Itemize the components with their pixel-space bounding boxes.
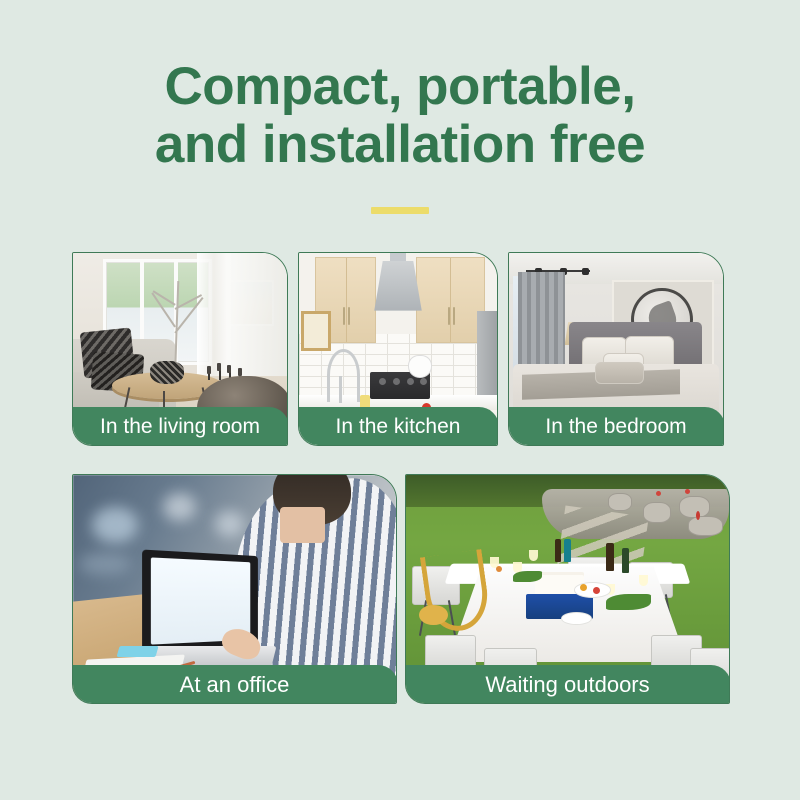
scene-card-office[interactable]: At an office <box>72 474 397 704</box>
title-divider <box>371 207 429 214</box>
scene-card-bedroom[interactable]: In the bedroom <box>508 252 724 446</box>
page-title: Compact, portable, and installation free <box>0 58 800 174</box>
card-caption-outdoors: Waiting outdoors <box>405 665 730 704</box>
page-title-line-1: Compact, portable, <box>0 58 800 116</box>
card-caption-bedroom: In the bedroom <box>508 407 724 446</box>
card-caption-kitchen: In the kitchen <box>298 407 498 446</box>
scene-card-outdoors[interactable]: Waiting outdoors <box>405 474 730 704</box>
page-title-line-2: and installation free <box>0 116 800 174</box>
scene-card-living-room[interactable]: In the living room <box>72 252 288 446</box>
promo-page: Compact, portable, and installation free <box>0 0 800 800</box>
scene-card-kitchen[interactable]: In the kitchen <box>298 252 498 446</box>
card-caption-office: At an office <box>72 665 397 704</box>
card-caption-living-room: In the living room <box>72 407 288 446</box>
